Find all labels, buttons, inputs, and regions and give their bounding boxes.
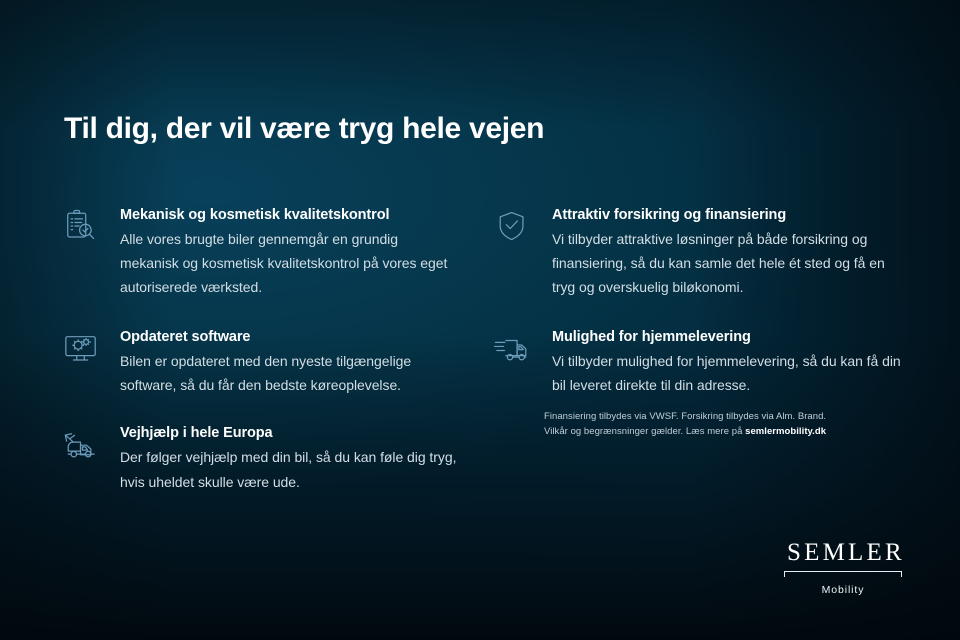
feature-title: Mulighed for hjemmelevering xyxy=(552,327,910,348)
disclaimer-line-1: Finansiering tilbydes via VWSF. Forsikri… xyxy=(544,409,904,424)
feature-item: Opdateret software Bilen er opdateret me… xyxy=(58,327,458,397)
semler-mobility-logo: SEMLER Mobility xyxy=(784,540,902,596)
feature-column-right: Attraktiv forsikring og finansiering Vi … xyxy=(490,205,910,397)
semlermobility-link[interactable]: semlermobility.dk xyxy=(745,426,826,437)
feature-body: Vi tilbyder mulighed for hjemmelevering,… xyxy=(552,349,910,397)
logo-wordmark: SEMLER xyxy=(784,540,902,565)
feature-item: Mekanisk og kosmetisk kvalitetskontrol A… xyxy=(58,205,458,299)
feature-title: Opdateret software xyxy=(120,327,458,348)
feature-column-left: Mekanisk og kosmetisk kvalitetskontrol A… xyxy=(58,205,458,494)
disclaimer-line-2: Vilkår og begrænsninger gælder. Læs mere… xyxy=(544,424,904,439)
clipboard-magnifier-icon xyxy=(62,209,100,245)
tow-truck-icon xyxy=(62,427,100,463)
feature-body: Alle vores brugte biler gennemgår en gru… xyxy=(120,227,458,299)
delivery-truck-icon xyxy=(494,331,532,367)
legal-disclaimer: Finansiering tilbydes via VWSF. Forsikri… xyxy=(544,409,904,440)
slide-content: Til dig, der vil være tryg hele vejen Me… xyxy=(0,0,960,640)
logo-bracket-rule xyxy=(784,571,902,580)
disclaimer-line-2-text: Vilkår og begrænsninger gælder. Læs mere… xyxy=(544,426,745,437)
shield-check-icon xyxy=(494,209,532,245)
feature-item: Vejhjælp i hele Europa Der følger vejhjæ… xyxy=(58,423,458,493)
feature-item: Attraktiv forsikring og finansiering Vi … xyxy=(490,205,910,299)
feature-title: Vejhjælp i hele Europa xyxy=(120,423,458,444)
feature-body: Vi tilbyder attraktive løsninger på både… xyxy=(552,227,910,299)
page-title: Til dig, der vil være tryg hele vejen xyxy=(64,112,544,146)
logo-subtitle: Mobility xyxy=(784,584,902,596)
feature-item: Mulighed for hjemmelevering Vi tilbyder … xyxy=(490,327,910,397)
feature-body: Bilen er opdateret med den nyeste tilgæn… xyxy=(120,349,458,397)
monitor-gears-icon xyxy=(62,331,100,367)
feature-title: Attraktiv forsikring og finansiering xyxy=(552,205,910,226)
feature-body: Der følger vejhjælp med din bil, så du k… xyxy=(120,445,458,493)
feature-title: Mekanisk og kosmetisk kvalitetskontrol xyxy=(120,205,458,226)
